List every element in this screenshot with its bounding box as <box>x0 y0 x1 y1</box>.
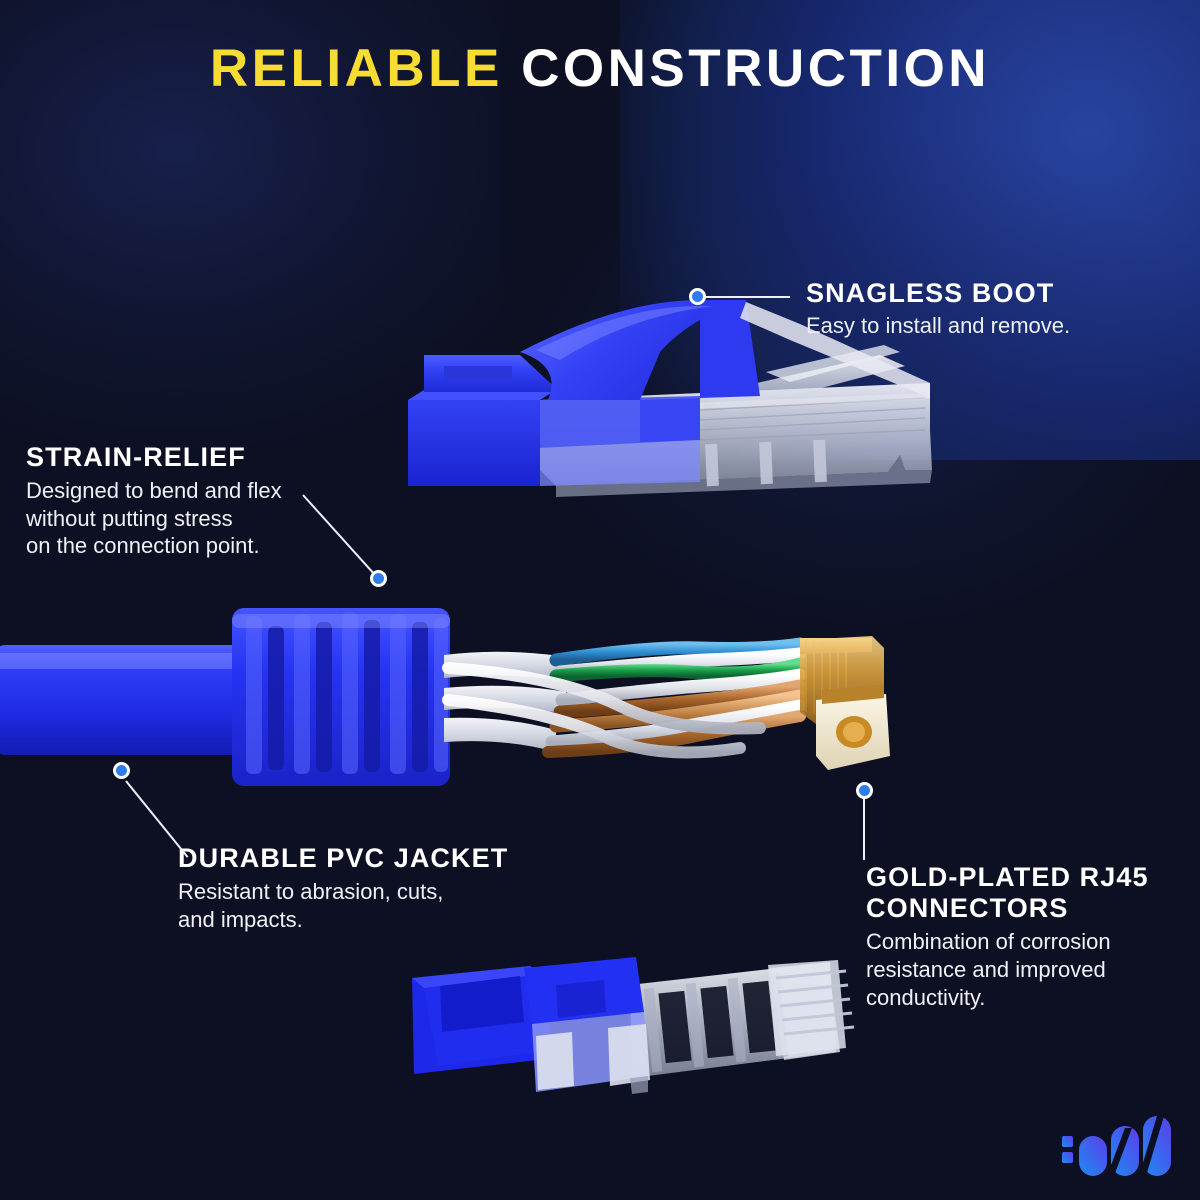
gold-plated-connectors-marker <box>856 782 873 799</box>
callout-strain-relief-heading: STRAIN-RELIEF <box>26 442 356 473</box>
page-title-main: CONSTRUCTION <box>521 39 990 98</box>
callout-durable-pvc-jacket-body: Resistant to abrasion, cuts, and impacts… <box>178 878 568 933</box>
strain-relief-boot <box>232 608 450 786</box>
cable-illustration <box>0 608 890 786</box>
callout-gold-plated-connectors-heading: GOLD-PLATED RJ45 CONNECTORS <box>866 862 1186 924</box>
callout-gold-plated-connectors-heading-line-2: CONNECTORS <box>866 893 1186 924</box>
snagless-boot-marker <box>689 288 706 305</box>
callout-strain-relief-body: Designed to bend and flex without puttin… <box>26 477 356 560</box>
connector-bottom-illustration <box>412 957 854 1094</box>
callout-gold-plated-connectors-body: Combination of corrosion resistance and … <box>866 928 1186 1011</box>
background-glow-center <box>520 120 1200 640</box>
page-title-accent: RELIABLE <box>210 39 503 98</box>
callout-durable-pvc-jacket-body-line-1: Resistant to abrasion, cuts, <box>178 878 568 906</box>
callout-strain-relief-body-line-2: without putting stress <box>26 505 356 533</box>
callout-snagless-boot-body: Easy to install and remove. <box>806 312 1136 340</box>
page-title: RELIABLE CONSTRUCTION <box>0 42 1200 95</box>
callout-gold-plated-connectors-body-line-2: resistance and improved <box>866 956 1186 984</box>
product-illustration <box>0 0 1200 1200</box>
gold-plated-contacts <box>800 636 890 770</box>
callout-gold-plated-connectors-body-line-3: conductivity. <box>866 984 1186 1012</box>
callout-gold-plated-connectors: GOLD-PLATED RJ45 CONNECTORS Combination … <box>866 862 1186 1011</box>
callout-durable-pvc-jacket-heading: DURABLE PVC JACKET <box>178 843 568 874</box>
callout-snagless-boot-heading: SNAGLESS BOOT <box>806 278 1136 309</box>
durable-pvc-jacket-leader-line <box>125 780 188 857</box>
brand-logo <box>1062 1116 1171 1176</box>
strain-relief-marker <box>370 570 387 587</box>
callout-snagless-boot: SNAGLESS BOOT Easy to install and remove… <box>806 278 1136 340</box>
callout-durable-pvc-jacket-body-line-2: and impacts. <box>178 906 568 934</box>
durable-pvc-jacket-marker <box>113 762 130 779</box>
gold-plated-connectors-leader-line <box>863 798 865 860</box>
infographic-page: RELIABLE CONSTRUCTION <box>0 0 1200 1200</box>
callout-durable-pvc-jacket: DURABLE PVC JACKET Resistant to abrasion… <box>178 843 568 933</box>
callout-gold-plated-connectors-body-line-1: Combination of corrosion <box>866 928 1186 956</box>
callout-strain-relief-body-line-3: on the connection point. <box>26 532 356 560</box>
callout-gold-plated-connectors-heading-line-1: GOLD-PLATED RJ45 <box>866 862 1186 893</box>
snagless-boot-leader-line <box>706 296 790 298</box>
